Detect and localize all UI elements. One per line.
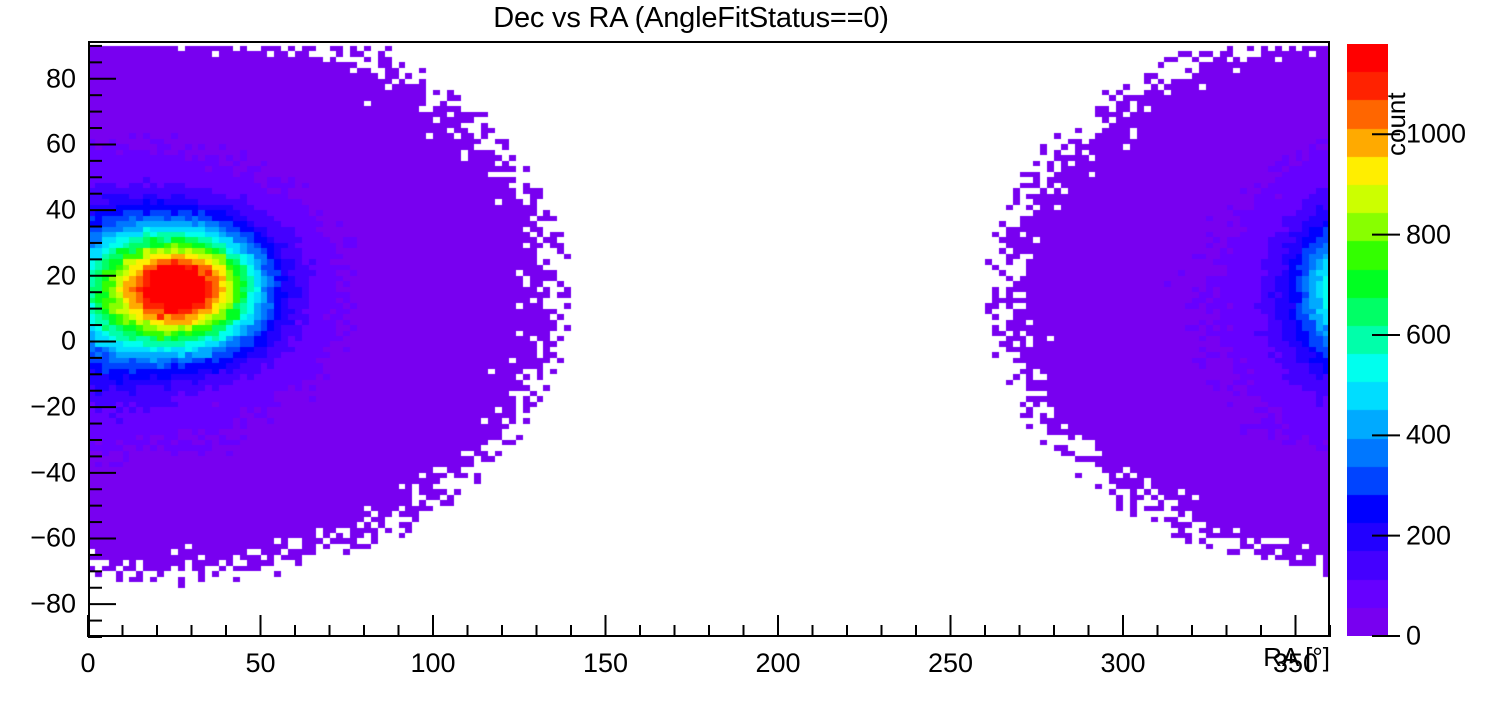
y-tick-label: 60 bbox=[0, 129, 76, 160]
histogram-frame bbox=[88, 41, 1330, 637]
x-axis-title: RA [°] bbox=[1150, 642, 1330, 673]
x-tick-label: 0 bbox=[80, 648, 95, 679]
y-tick-label: −40 bbox=[0, 457, 76, 488]
x-tick-label: 50 bbox=[245, 648, 275, 679]
z-tick-label: 400 bbox=[1406, 420, 1451, 451]
y-tick-label: 40 bbox=[0, 195, 76, 226]
y-tick-label: 80 bbox=[0, 63, 76, 94]
z-tick-label: 1000 bbox=[1406, 119, 1466, 150]
z-tick-label: 200 bbox=[1406, 520, 1451, 551]
plot-canvas-root: Dec vs RA (AngleFitStatus==0) 806040200−… bbox=[0, 0, 1496, 722]
heatmap-surface bbox=[88, 41, 1330, 637]
x-tick-label: 300 bbox=[1100, 648, 1145, 679]
y-tick-label: 20 bbox=[0, 260, 76, 291]
x-tick-label: 100 bbox=[410, 648, 455, 679]
z-tick-label: 600 bbox=[1406, 319, 1451, 350]
x-tick-label: 250 bbox=[928, 648, 973, 679]
y-tick-label: −80 bbox=[0, 589, 76, 620]
y-tick-label: 0 bbox=[0, 326, 76, 357]
z-tick-label: 800 bbox=[1406, 219, 1451, 250]
y-tick-label: −20 bbox=[0, 392, 76, 423]
z-tick-label: 0 bbox=[1406, 621, 1421, 652]
x-tick-label: 150 bbox=[583, 648, 628, 679]
y-tick-label: −60 bbox=[0, 523, 76, 554]
x-tick-label: 200 bbox=[755, 648, 800, 679]
page-title: Dec vs RA (AngleFitStatus==0) bbox=[0, 2, 1382, 35]
